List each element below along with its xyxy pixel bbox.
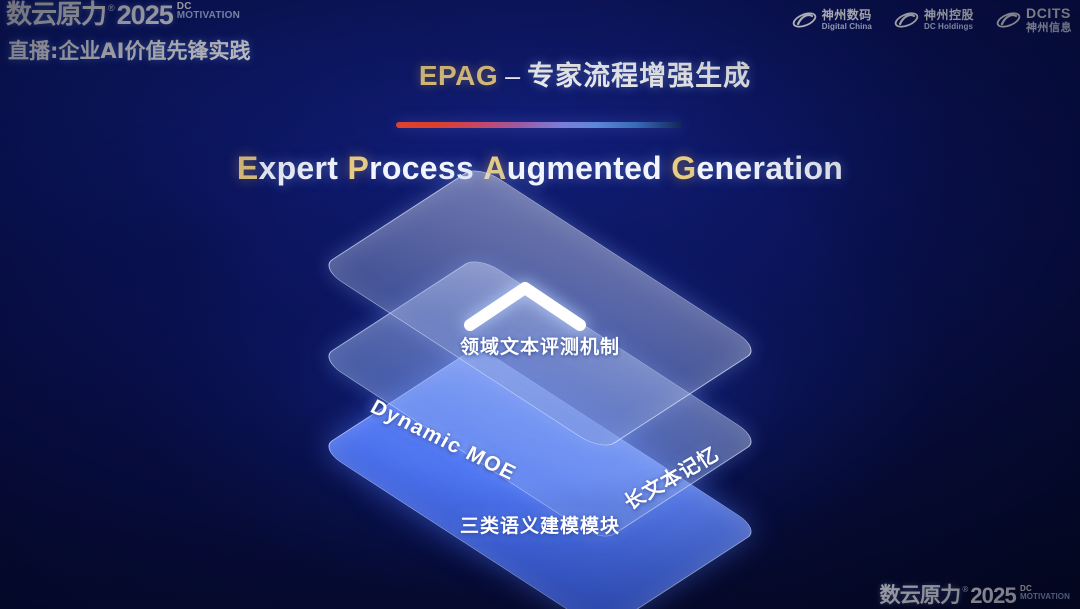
watermark-year: 2025 [970, 585, 1016, 606]
subtitle: Expert Process Augmented Generation [0, 150, 1080, 187]
partner-logo-dc-holdings: 神州控股 DC Holdings [894, 9, 974, 31]
partner-logo-text: DCITS 神州信息 [1026, 6, 1072, 33]
partner-logo-dcits: DCITS 神州信息 [996, 6, 1072, 33]
watermark-registered-mark-icon: ® [962, 585, 968, 595]
watermark-name-cn: 数云原力 [880, 585, 961, 606]
partner-name-en: DCITS [1026, 6, 1072, 20]
watermark-logo: 数云原力 ® 2025 DC MOTIVATION [880, 585, 1071, 606]
brand-name-cn: 数云原力 [6, 2, 106, 28]
layer-label-top: 领域文本评测机制 [290, 332, 790, 359]
chevron-up-icon [462, 279, 588, 333]
partner-name-en: Digital China [822, 23, 872, 31]
layer-label-bottom: 三类语义建模模块 [290, 511, 790, 538]
headline-dash: – [498, 61, 527, 91]
layered-stack-diagram: 领域文本评测机制 Dynamic MOE 长文本记忆 三类语义建模模块 [290, 226, 790, 571]
headline-acronym: EPAG [419, 60, 498, 91]
page-title: EPAG–专家流程增强生成 [0, 54, 1080, 93]
partner-name-cn: 神州信息 [1026, 22, 1072, 33]
subtitle-cap-p: P [347, 150, 369, 186]
brand-logo: 数云原力 ® 2025 DC MOTIVATION [6, 2, 250, 28]
partner-logo-text: 神州数码 Digital China [822, 9, 872, 31]
swirl-logo-icon [894, 9, 919, 31]
partner-name-cn: 神州数码 [822, 9, 872, 21]
subtitle-cap-g: G [671, 150, 696, 186]
subtitle-word-generation: eneration [696, 150, 843, 186]
subtitle-cap-e: E [237, 150, 259, 186]
brand-motivation-text: MOTIVATION [177, 11, 240, 20]
brand-year: 2025 [117, 2, 173, 28]
subtitle-word-augmented: ugmented [507, 150, 662, 186]
watermark-motivation-text: MOTIVATION [1020, 593, 1070, 601]
watermark-dc-motivation: DC MOTIVATION [1020, 585, 1070, 601]
partner-name-en: DC Holdings [924, 23, 974, 31]
brand-dc-motivation: DC MOTIVATION [177, 2, 240, 20]
registered-mark-icon: ® [108, 2, 115, 14]
divider [396, 122, 682, 128]
partner-logo-group: 神州数码 Digital China 神州控股 DC Holdings DCIT… [792, 6, 1072, 33]
subtitle-word-expert: xpert [258, 150, 338, 186]
partner-name-cn: 神州控股 [924, 9, 974, 21]
headline-chinese: 专家流程增强生成 [527, 61, 751, 92]
slide-canvas: 数云原力 ® 2025 DC MOTIVATION 直播:企业AI价值先锋实践 … [0, 0, 1080, 609]
swirl-logo-icon [996, 9, 1021, 31]
partner-logo-digital-china: 神州数码 Digital China [792, 9, 872, 31]
swirl-logo-icon [792, 9, 817, 31]
partner-logo-text: 神州控股 DC Holdings [924, 9, 974, 31]
